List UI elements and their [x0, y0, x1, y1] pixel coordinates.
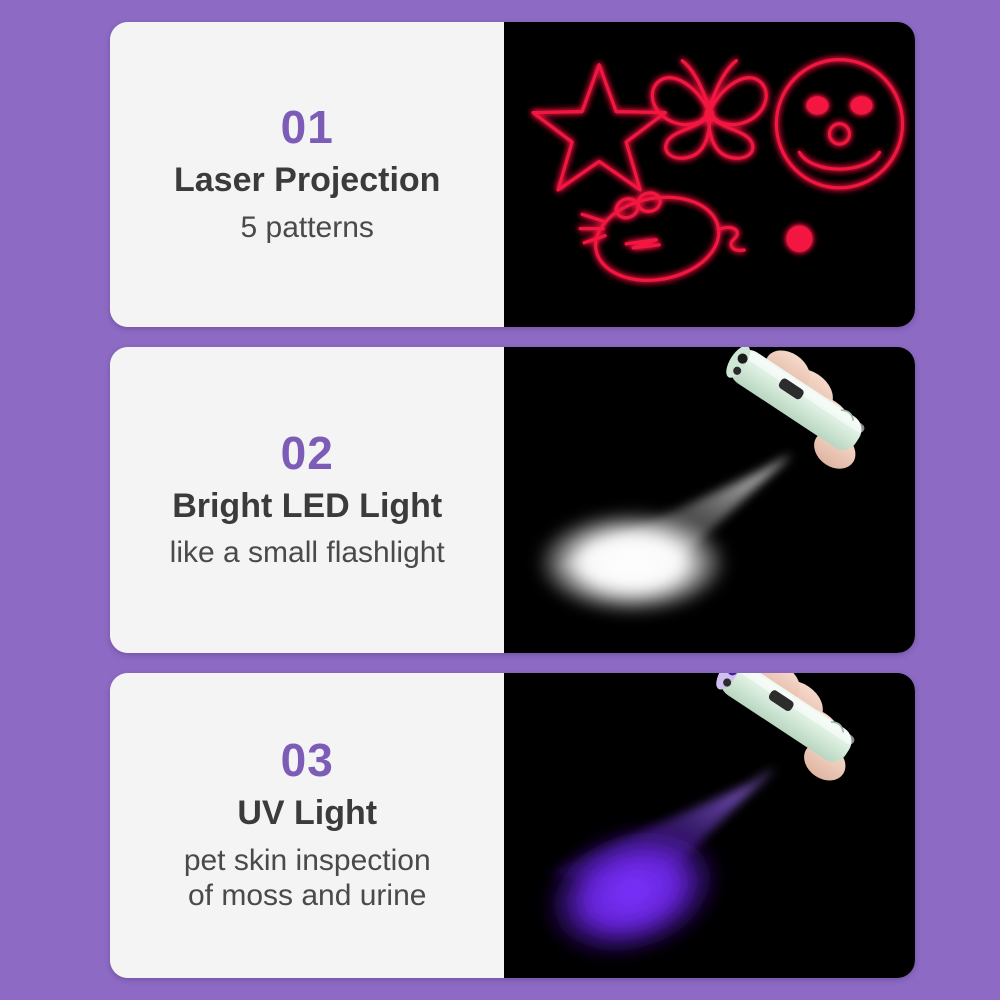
uv-beam-illustration	[504, 673, 915, 978]
laser-pattern-panel	[504, 22, 915, 327]
feature-text-block: 03 UV Light pet skin inspection of moss …	[110, 673, 504, 978]
feature-card-uv-light: 03 UV Light pet skin inspection of moss …	[110, 673, 915, 978]
feature-title: Laser Projection	[174, 162, 440, 199]
feature-infographic: 01 Laser Projection 5 patterns	[0, 0, 1000, 1000]
feature-title: UV Light	[237, 795, 377, 832]
feature-subtitle: pet skin inspection of moss and urine	[184, 843, 431, 914]
laser-patterns-illustration	[504, 22, 915, 327]
uv-beam-panel	[504, 673, 915, 978]
feature-card-bright-led-light: 02 Bright LED Light like a small flashli…	[110, 347, 915, 652]
feature-card-laser-projection: 01 Laser Projection 5 patterns	[110, 22, 915, 327]
laser-pattern-dot	[787, 226, 813, 252]
led-light-pool	[536, 511, 728, 615]
feature-title: Bright LED Light	[172, 488, 442, 525]
feature-subtitle: 5 patterns	[241, 210, 374, 245]
feature-number: 03	[281, 737, 334, 783]
feature-text-block: 01 Laser Projection 5 patterns	[110, 22, 504, 327]
led-beam-illustration	[504, 347, 915, 652]
feature-number: 02	[281, 430, 334, 476]
feature-text-block: 02 Bright LED Light like a small flashli…	[110, 347, 504, 652]
led-beam-panel	[504, 347, 915, 652]
feature-number: 01	[281, 104, 334, 150]
feature-subtitle: like a small flashlight	[170, 535, 445, 570]
panel-background	[504, 22, 915, 327]
